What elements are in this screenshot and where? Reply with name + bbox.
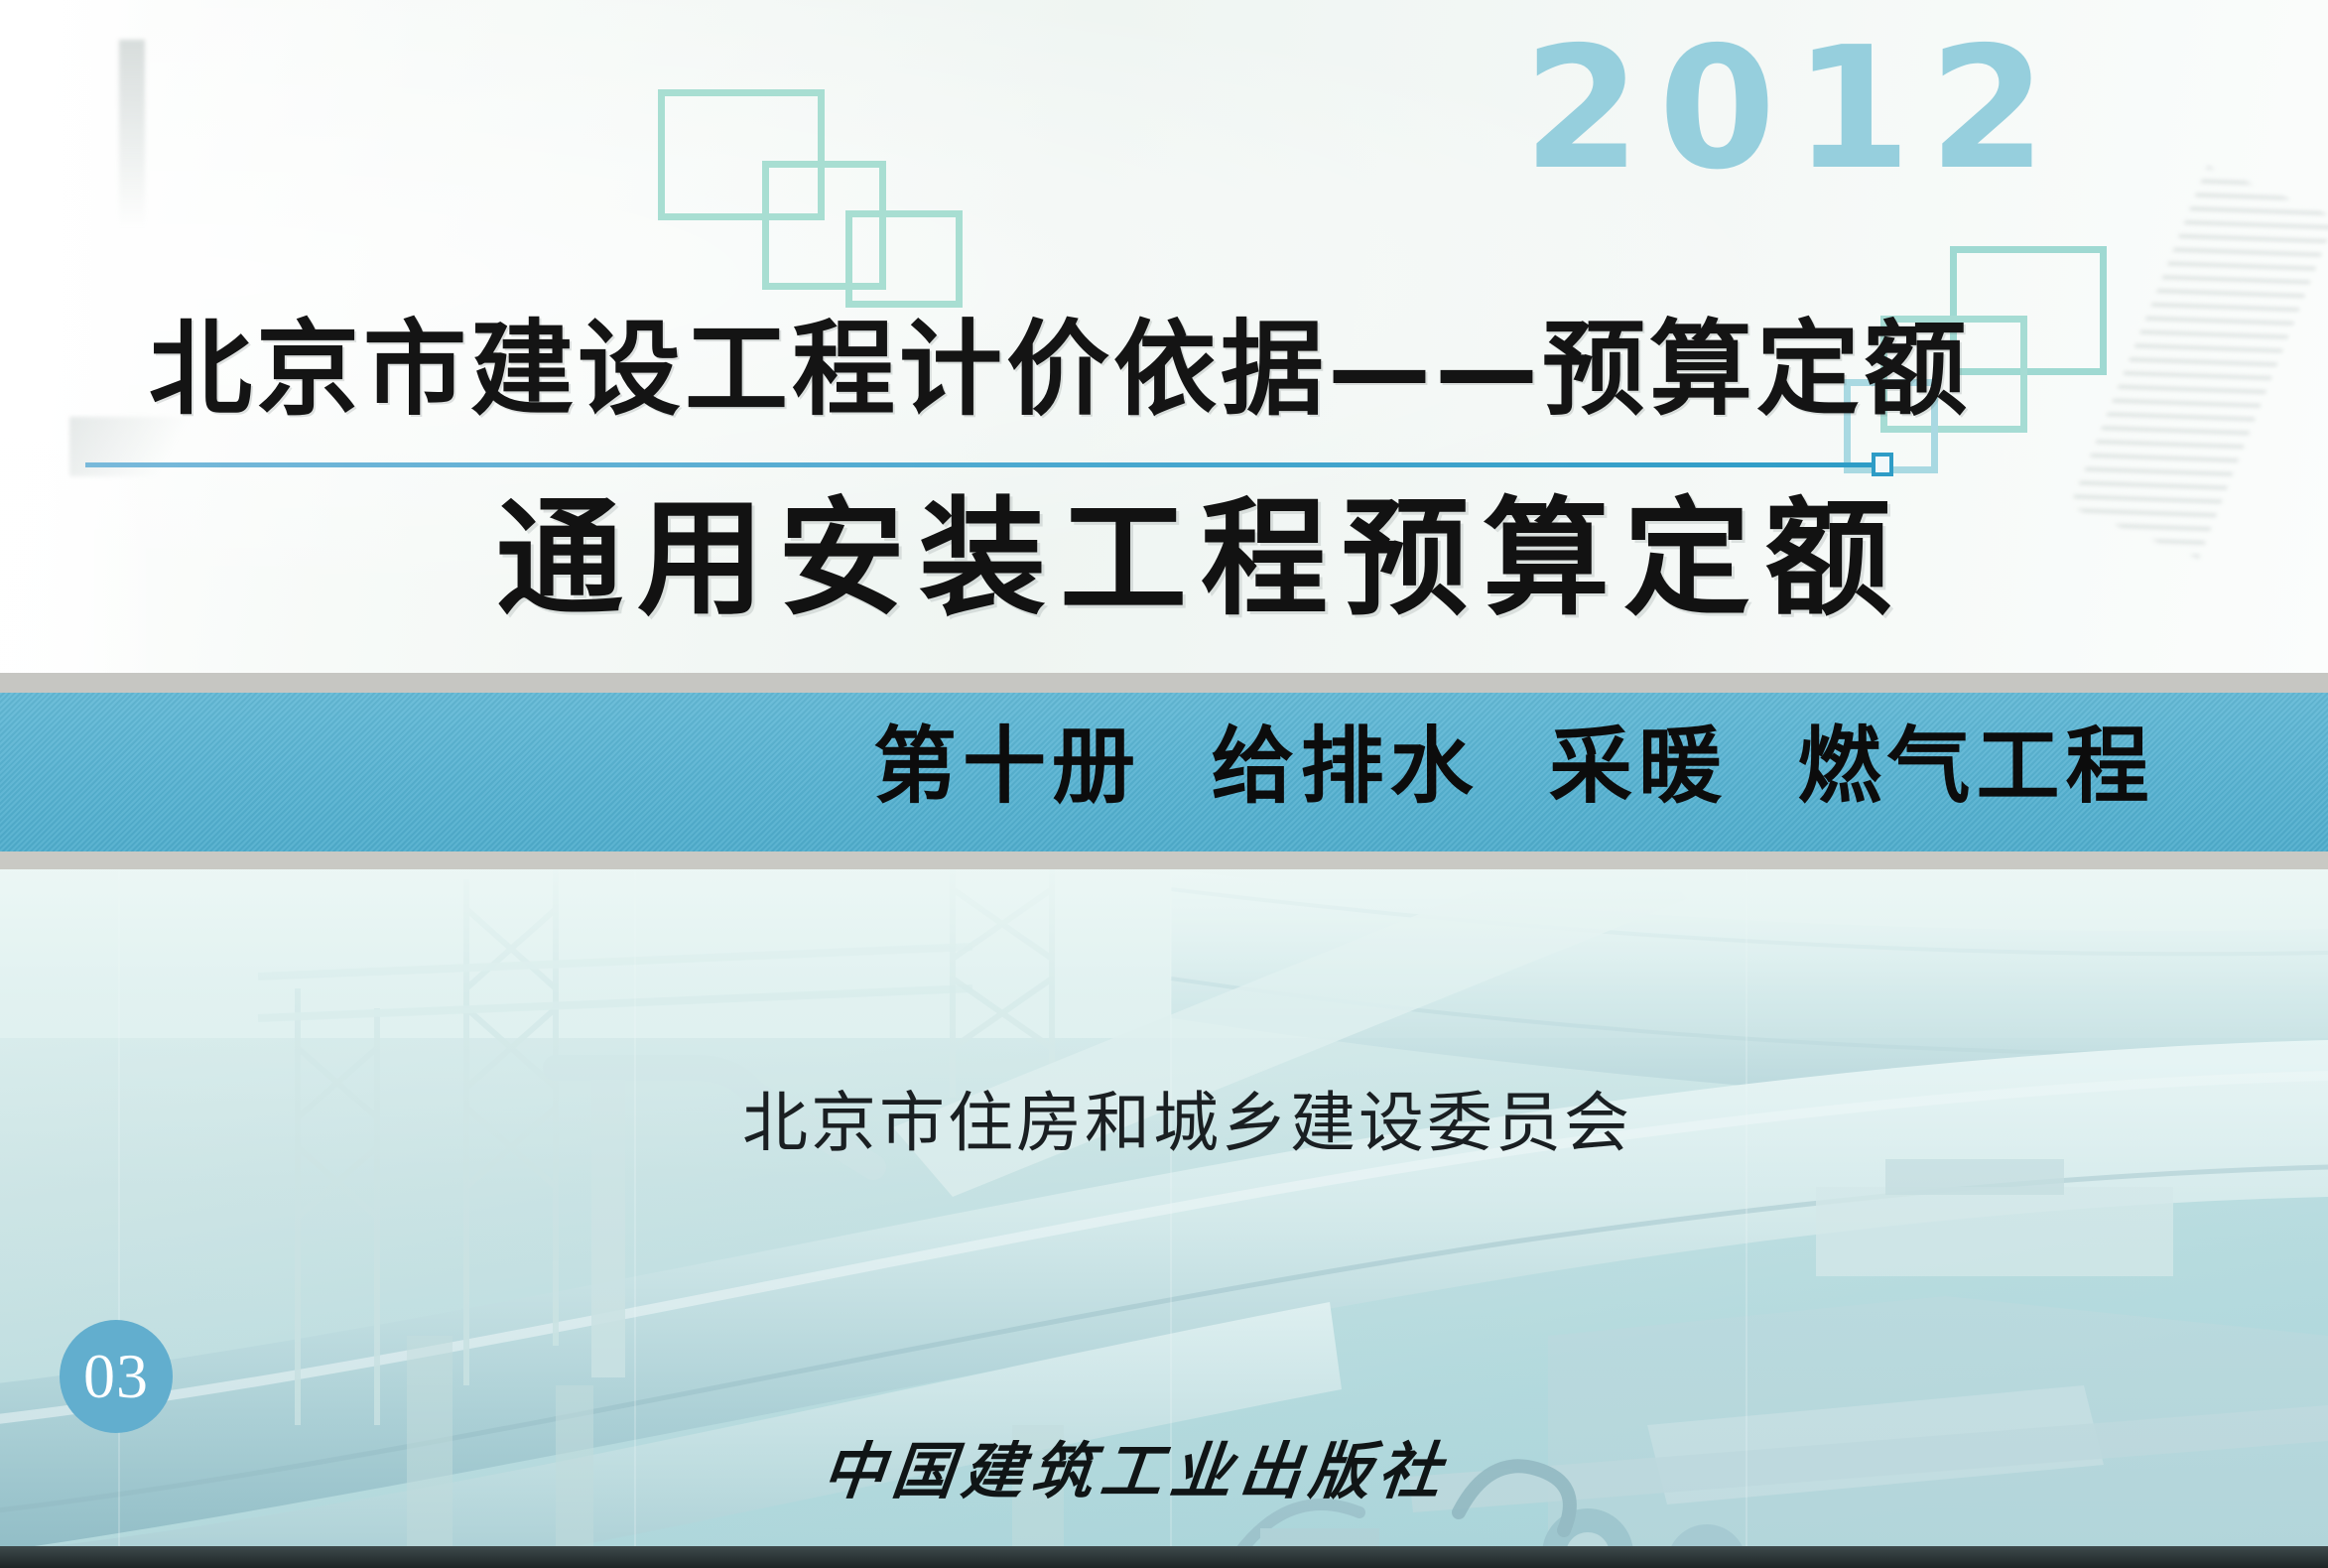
- volume-subtitle: 第十册 给排水 采暖 燃气工程: [873, 713, 2154, 821]
- publisher-name: 中国建筑工业出版社: [819, 1421, 1453, 1510]
- band-bottom-separator: [0, 851, 2328, 869]
- edition-year: 2012: [1523, 25, 2064, 194]
- band-top-separator: [0, 673, 2328, 693]
- series-title: 北京市建设工程计价依据——预算定额: [149, 318, 1971, 421]
- cover-bottom-edge: [0, 1546, 2328, 1568]
- book-title: 通用安装工程预算定额: [496, 496, 1905, 623]
- book-cover: 2012 北京市建设工程计价依据——预算定额 通用安装工程预算定额 第十册 给排…: [0, 0, 2328, 1568]
- volume-number-badge: 03: [60, 1320, 173, 1433]
- title-divider-endcap: [1872, 453, 1893, 476]
- title-divider-rule: [85, 462, 1872, 467]
- decorative-square-left-3: [845, 210, 963, 308]
- volume-number-badge-label: 03: [83, 1345, 149, 1408]
- issuing-authority: 北京市住房和城乡建设委员会: [742, 1070, 1632, 1165]
